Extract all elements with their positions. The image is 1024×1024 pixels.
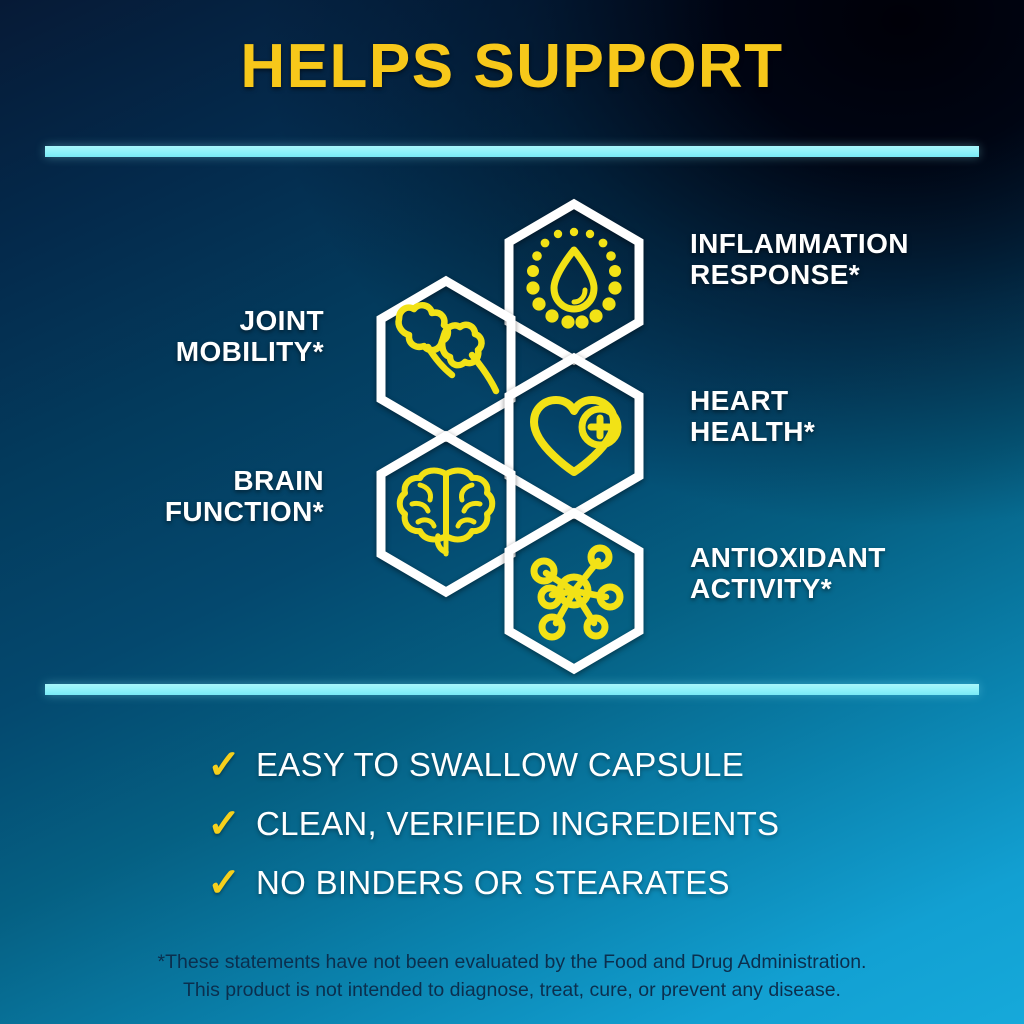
benefit-label-brain-line1: BRAIN: [165, 465, 324, 496]
fda-disclaimer-line2: This product is not intended to diagnose…: [0, 976, 1024, 1004]
divider-top: [45, 146, 979, 157]
checkmark-icon: ✓: [192, 863, 256, 903]
benefit-label-antioxidant: ANTIOXIDANT ACTIVITY*: [690, 542, 886, 605]
hex-tile-inflammation: [500, 198, 648, 366]
benefit-label-brain: BRAIN FUNCTION*: [165, 465, 324, 528]
benefit-label-heart: HEART HEALTH*: [690, 385, 815, 448]
bone-joint-icon: [399, 305, 496, 391]
checkmark-icon: ✓: [192, 745, 256, 785]
droplet-burst-icon: [526, 228, 621, 329]
benefit-label-joint: JOINT MOBILITY*: [176, 305, 324, 368]
benefit-label-heart-line1: HEART: [690, 385, 815, 416]
feature-text: NO BINDERS OR STEARATES: [256, 864, 730, 902]
benefit-label-joint-line1: JOINT: [176, 305, 324, 336]
hex-tile-brain: [372, 430, 520, 598]
title-container: HELPS SUPPORT: [0, 36, 1024, 98]
benefit-label-brain-line2: FUNCTION*: [165, 496, 324, 527]
heart-plus-icon: [534, 400, 618, 472]
hex-tile-antioxidant: [500, 507, 648, 675]
product-benefits-infographic: HELPS SUPPORT: [0, 0, 1024, 1024]
benefit-label-heart-line2: HEALTH*: [690, 416, 815, 447]
benefit-label-antioxidant-line2: ACTIVITY*: [690, 573, 886, 604]
molecule-icon: [534, 548, 620, 637]
hex-tile-joint: [372, 275, 520, 443]
fda-disclaimer: *These statements have not been evaluate…: [0, 948, 1024, 1005]
brain-icon: [400, 471, 493, 554]
features-list: ✓ EASY TO SWALLOW CAPSULE ✓ CLEAN, VERIF…: [0, 735, 1024, 912]
benefits-hex-grid: INFLAMMATION RESPONSE* JOINT MOBILITY* H…: [0, 180, 1024, 680]
benefit-label-inflammation: INFLAMMATION RESPONSE*: [690, 228, 909, 291]
list-item: ✓ EASY TO SWALLOW CAPSULE: [0, 735, 1024, 794]
hex-tile-heart: [500, 352, 648, 520]
benefit-label-inflammation-line2: RESPONSE*: [690, 259, 909, 290]
list-item: ✓ CLEAN, VERIFIED INGREDIENTS: [0, 794, 1024, 853]
benefit-label-inflammation-line1: INFLAMMATION: [690, 228, 909, 259]
feature-text: EASY TO SWALLOW CAPSULE: [256, 746, 744, 784]
page-title: HELPS SUPPORT: [240, 36, 783, 98]
benefit-label-joint-line2: MOBILITY*: [176, 336, 324, 367]
divider-bottom: [45, 684, 979, 695]
list-item: ✓ NO BINDERS OR STEARATES: [0, 853, 1024, 912]
checkmark-icon: ✓: [192, 804, 256, 844]
benefit-label-antioxidant-line1: ANTIOXIDANT: [690, 542, 886, 573]
feature-text: CLEAN, VERIFIED INGREDIENTS: [256, 805, 779, 843]
fda-disclaimer-line1: *These statements have not been evaluate…: [0, 948, 1024, 976]
